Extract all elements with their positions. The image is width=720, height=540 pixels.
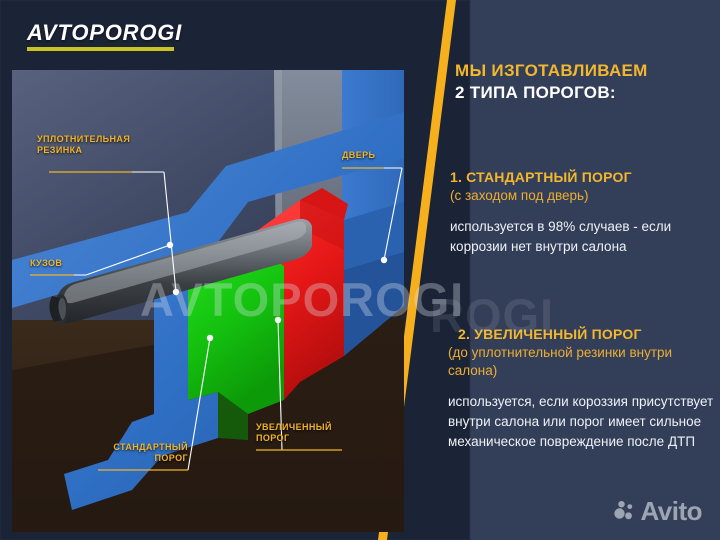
section-2-subtitle: (до уплотнительной резинки внутри салона… bbox=[446, 344, 720, 380]
logo-text: AVTOPOROGI bbox=[27, 22, 182, 44]
avito-watermark: Avito bbox=[612, 498, 702, 524]
label-seal: УПЛОТНИТЕЛЬНАЯ РЕЗИНКА bbox=[37, 134, 130, 156]
label-extended-sill: УВЕЛИЧЕННЫЙ ПОРОГ bbox=[256, 422, 332, 444]
section-1-subtitle: (с заходом под дверь) bbox=[450, 187, 718, 205]
section-standard-sill: 1. СТАНДАРТНЫЙ ПОРОГ (с заходом под двер… bbox=[450, 168, 718, 257]
avito-wordmark: Avito bbox=[640, 498, 702, 524]
logo: AVTOPOROGI bbox=[27, 22, 182, 51]
headline-line-2: 2 ТИПА ПОРОГОВ: bbox=[455, 82, 720, 104]
headline: МЫ ИЗГОТАВЛИВАЕМ 2 ТИПА ПОРОГОВ: bbox=[455, 60, 720, 104]
section-1-title: 1. СТАНДАРТНЫЙ ПОРОГ bbox=[450, 168, 718, 186]
section-2-body: используется, если короззия присутствует… bbox=[446, 392, 720, 452]
section-1-body: используется в 98% случаев - если корроз… bbox=[450, 217, 718, 257]
label-door: ДВЕРЬ bbox=[342, 150, 375, 161]
infographic-root: AVTOPOROGI bbox=[0, 0, 720, 540]
section-2-title: 2. УВЕЛИЧЕННЫЙ ПОРОГ bbox=[446, 325, 720, 343]
sill-diagram: УПЛОТНИТЕЛЬНАЯ РЕЗИНКА ДВЕРЬ КУЗОВ СТАНД… bbox=[12, 70, 404, 532]
label-body: КУЗОВ bbox=[30, 258, 62, 269]
section-extended-sill: 2. УВЕЛИЧЕННЫЙ ПОРОГ (до уплотнительной … bbox=[446, 325, 720, 452]
label-standard-sill: СТАНДАРТНЫЙ ПОРОГ bbox=[98, 442, 188, 464]
avito-logo-icon bbox=[612, 499, 636, 523]
right-content: ROGI МЫ ИЗГОТАВЛИВАЕМ 2 ТИПА ПОРОГОВ: 1.… bbox=[440, 0, 720, 540]
logo-underline bbox=[27, 47, 174, 51]
headline-line-1: МЫ ИЗГОТАВЛИВАЕМ bbox=[455, 60, 720, 82]
